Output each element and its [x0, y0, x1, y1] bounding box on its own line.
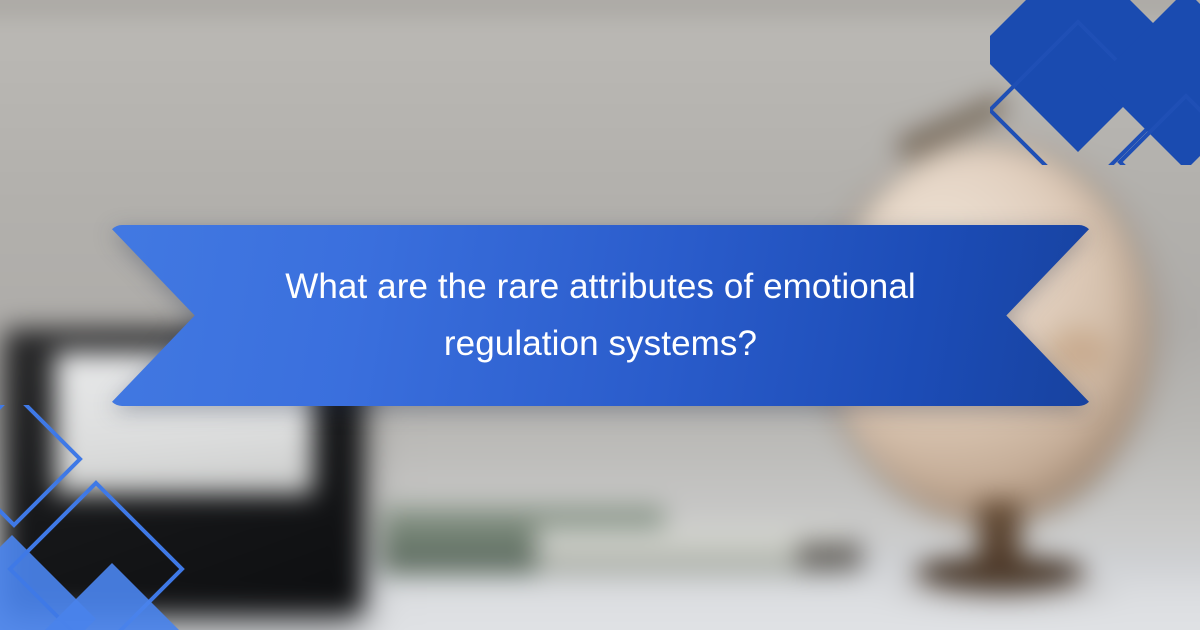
card-canvas: What are the rare attributes of emotiona…	[0, 0, 1200, 630]
question-line-2: regulation systems?	[444, 316, 757, 373]
question-banner-text: What are the rare attributes of emotiona…	[108, 225, 1093, 406]
background-globe-stem	[978, 500, 1022, 564]
background-papers-stack	[536, 528, 843, 574]
background-small-object	[798, 542, 862, 570]
question-banner: What are the rare attributes of emotiona…	[108, 225, 1093, 406]
background-shelf-shadow	[0, 0, 1200, 24]
background-globe-shadow	[882, 578, 1125, 606]
question-line-1: What are the rare attributes of emotiona…	[285, 259, 916, 316]
